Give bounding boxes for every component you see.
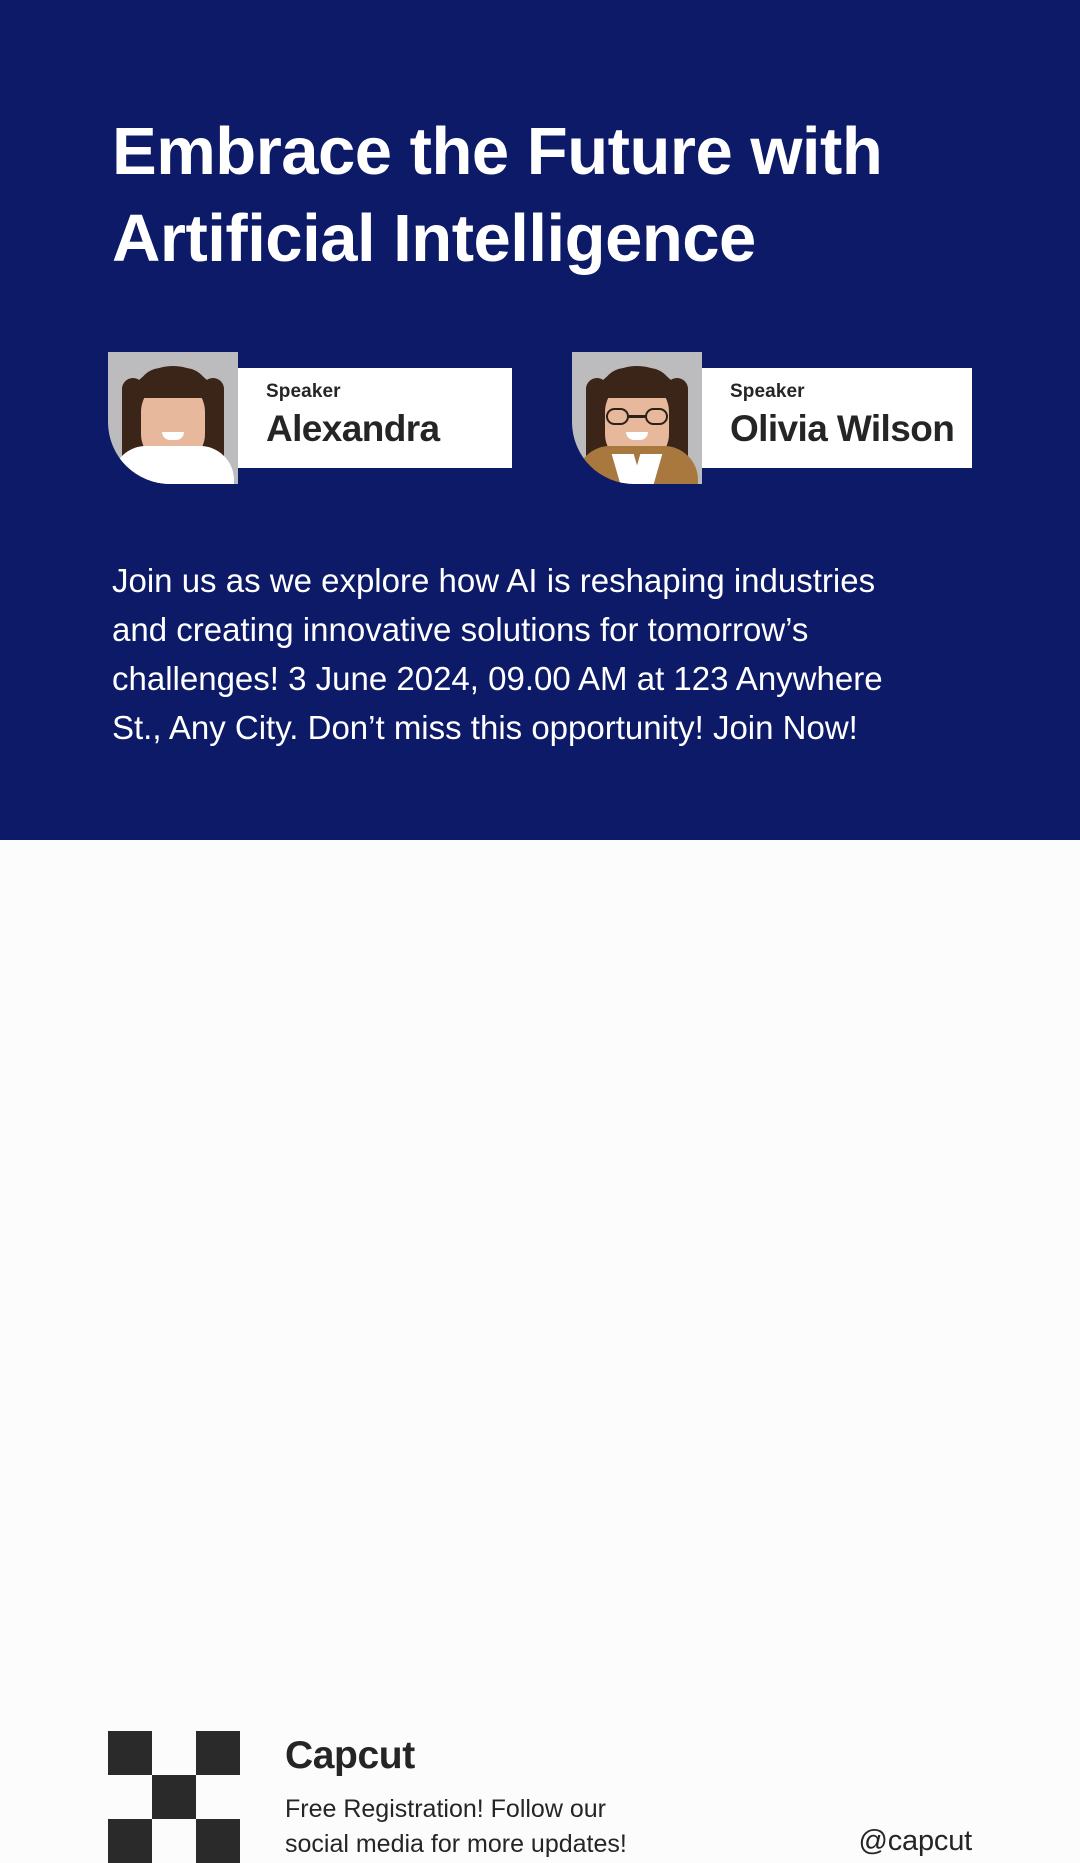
speaker-nameplate-olivia-wilson: Speaker Olivia Wilson [702,368,972,468]
avatar [572,352,702,484]
brand-tagline: Free Registration! Follow our social med… [285,1792,715,1862]
avatar [108,352,238,484]
headline-line-1: Embrace the Future with [112,108,1012,195]
speaker-photo-alexandra [108,352,238,484]
speaker-photo-olivia-wilson [572,352,702,484]
brand-name: Capcut [285,1735,415,1778]
speaker-card-alexandra: Speaker Alexandra [108,352,512,484]
speaker-name: Alexandra [266,408,512,451]
checkerboard-logo-icon [108,1731,240,1863]
speaker-role-label: Speaker [266,382,512,401]
speaker-role-label: Speaker [730,382,972,401]
glasses-icon [606,408,668,425]
body-line-4: St., Any City. Don’t miss this opportuni… [112,703,992,752]
speaker-name: Olivia Wilson [730,408,972,451]
page-title: Embrace the Future with Artificial Intel… [112,108,1012,282]
body-line-3: challenges! 3 June 2024, 09.00 AM at 123… [112,654,992,703]
speaker-nameplate-alexandra: Speaker Alexandra [238,368,512,468]
social-handle: @capcut [859,1825,972,1858]
body-line-2: and creating innovative solutions for to… [112,605,992,654]
headline-line-2: Artificial Intelligence [112,195,1012,282]
speaker-card-olivia-wilson: Speaker Olivia Wilson [572,352,972,484]
tagline-line-1: Free Registration! Follow our [285,1792,715,1827]
body-line-1: Join us as we explore how AI is reshapin… [112,556,992,605]
event-description: Join us as we explore how AI is reshapin… [112,556,992,752]
tagline-line-2: social media for more updates! [285,1827,715,1862]
footer-section: Capcut Free Registration! Follow our soc… [0,840,1080,1080]
hero-section: Embrace the Future with Artificial Intel… [0,0,1080,840]
